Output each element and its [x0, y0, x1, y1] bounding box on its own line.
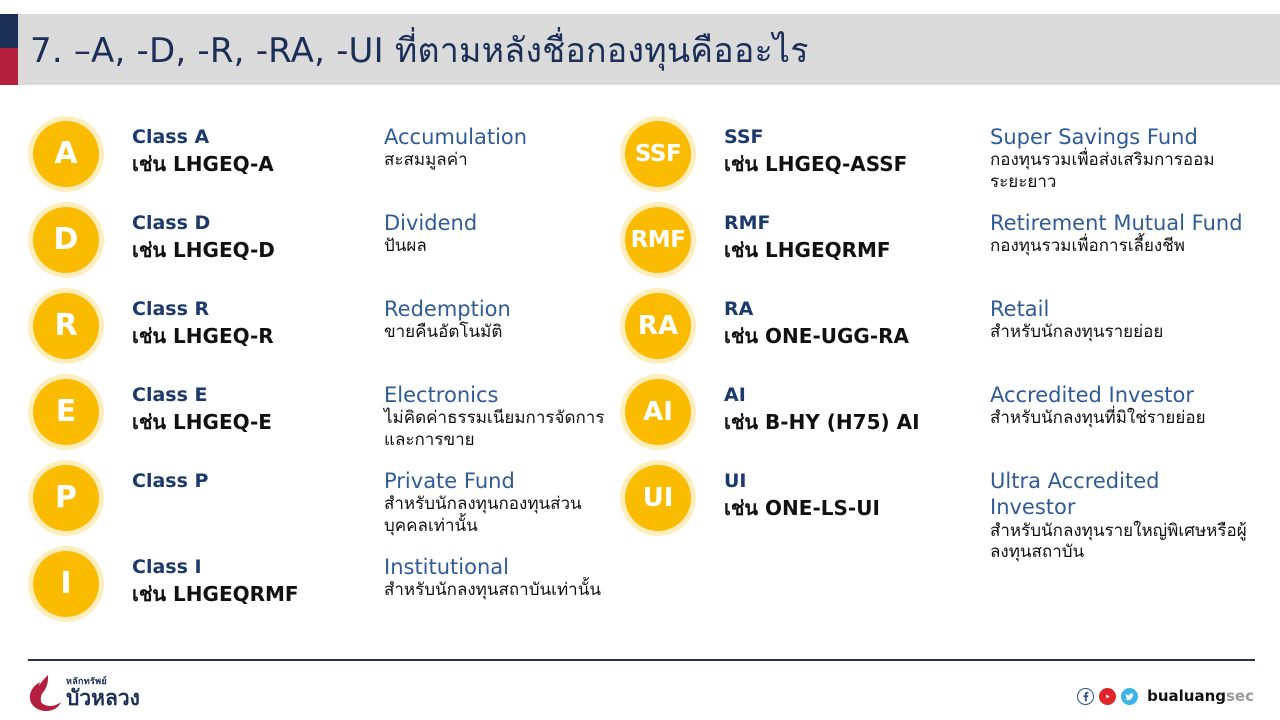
class-name-en: AI — [724, 383, 920, 409]
class-example-th: เช่น LHGEQ-R — [132, 323, 274, 350]
class-badge: RA — [620, 288, 696, 364]
page-title: 7. –A, -D, -R, -RA, -UI ที่ตามหลังชื่อกอ… — [30, 14, 809, 85]
class-example-th: เช่น LHGEQ-E — [132, 409, 272, 436]
fund-class-entry: RMFRMFเช่น LHGEQRMF — [620, 202, 891, 278]
youtube-icon[interactable] — [1099, 688, 1116, 705]
facebook-icon[interactable] — [1077, 688, 1094, 705]
description-en: Electronics — [384, 382, 624, 408]
title-accent-bar — [0, 14, 18, 85]
footer-divider — [28, 659, 1255, 661]
class-badge: D — [28, 202, 104, 278]
badge-label: RA — [625, 293, 691, 359]
description-th: ไม่คิดค่าธรรมเนียมการจัดการและการขาย — [384, 408, 624, 452]
class-badge: AI — [620, 374, 696, 450]
class-description-block: Accumulationสะสมมูลค่า — [384, 118, 624, 172]
description-en: Ultra Accredited Investor — [990, 468, 1250, 521]
logo-main-text: บัวหลวง — [66, 688, 140, 709]
class-description-block: Redemptionขายคืนอัตโนมัติ — [384, 290, 624, 344]
class-description-block: Super Savings Fundกองทุนรวมเพื่อส่งเสริม… — [990, 118, 1250, 194]
badge-label: RMF — [625, 207, 691, 273]
description-th: ขายคืนอัตโนมัติ — [384, 322, 624, 344]
class-name-en: Class R — [132, 297, 274, 323]
accent-red-block — [0, 48, 18, 85]
logo-wordmark: หลักทรัพย์ บัวหลวง — [66, 678, 140, 709]
class-name-en: Class P — [132, 469, 208, 495]
class-badge: R — [28, 288, 104, 364]
social-handle[interactable]: bualuangsec — [1147, 689, 1254, 704]
fund-class-entry: AClass Aเช่น LHGEQ-A — [28, 116, 274, 192]
description-th: กองทุนรวมเพื่อการเลี้ยงชีพ — [990, 236, 1250, 258]
class-badge: SSF — [620, 116, 696, 192]
class-example-th: เช่น LHGEQ-D — [132, 237, 275, 264]
class-description-block: Retirement Mutual Fundกองทุนรวมเพื่อการเ… — [990, 204, 1250, 258]
fund-class-entry: UIUIเช่น ONE-LS-UI — [620, 460, 880, 536]
class-badge: A — [28, 116, 104, 192]
class-badge: UI — [620, 460, 696, 536]
badge-label: E — [33, 379, 99, 445]
class-example-th: เช่น LHGEQ-ASSF — [724, 151, 907, 178]
class-name-block: Class Eเช่น LHGEQ-E — [132, 374, 272, 436]
content-area: AClass Aเช่น LHGEQ-AAccumulationสะสมมูลค… — [0, 100, 1280, 645]
class-name-en: RA — [724, 297, 909, 323]
fund-class-entry: RClass Rเช่น LHGEQ-R — [28, 288, 274, 364]
class-example-th: เช่น B-HY (H75) AI — [724, 409, 920, 436]
class-name-block: RAเช่น ONE-UGG-RA — [724, 288, 909, 350]
class-name-en: Class I — [132, 555, 299, 581]
description-th: สำหรับนักลงทุนรายใหญ่พิเศษหรือผู้ลงทุนสถ… — [990, 521, 1250, 565]
class-badge: I — [28, 546, 104, 622]
class-badge: E — [28, 374, 104, 450]
class-description-block: Retailสำหรับนักลงทุนรายย่อย — [990, 290, 1250, 344]
social-links: bualuangsec — [1077, 688, 1254, 705]
description-th: สำหรับนักลงทุนกองทุนส่วนบุคคลเท่านั้น — [384, 494, 624, 538]
description-th: ปันผล — [384, 236, 624, 258]
description-th: สำหรับนักลงทุนสถาบันเท่านั้น — [384, 580, 624, 602]
class-name-en: Class A — [132, 125, 274, 151]
fund-class-entry: AIAIเช่น B-HY (H75) AI — [620, 374, 920, 450]
class-example-th: เช่น LHGEQRMF — [132, 581, 299, 608]
description-en: Accumulation — [384, 124, 624, 150]
description-th: สะสมมูลค่า — [384, 150, 624, 172]
class-description-block: Ultra Accredited Investorสำหรับนักลงทุนร… — [990, 462, 1250, 564]
badge-label: D — [33, 207, 99, 273]
class-name-block: Class P — [132, 460, 208, 495]
class-name-block: Class Rเช่น LHGEQ-R — [132, 288, 274, 350]
bualuang-logo: หลักทรัพย์ บัวหลวง — [28, 674, 140, 712]
description-th: สำหรับนักลงทุนรายย่อย — [990, 322, 1250, 344]
badge-label: SSF — [625, 121, 691, 187]
class-name-block: AIเช่น B-HY (H75) AI — [724, 374, 920, 436]
description-en: Retirement Mutual Fund — [990, 210, 1250, 236]
class-example-th: เช่น LHGEQRMF — [724, 237, 891, 264]
class-name-block: Class Dเช่น LHGEQ-D — [132, 202, 275, 264]
description-th: สำหรับนักลงทุนที่มิใช่รายย่อย — [990, 408, 1250, 430]
description-en: Retail — [990, 296, 1250, 322]
class-name-en: Class D — [132, 211, 275, 237]
description-en: Private Fund — [384, 468, 624, 494]
description-th: กองทุนรวมเพื่อส่งเสริมการออมระยะยาว — [990, 150, 1250, 194]
badge-label: I — [33, 551, 99, 617]
twitter-icon[interactable] — [1121, 688, 1138, 705]
class-name-en: RMF — [724, 211, 891, 237]
accent-navy-block — [0, 14, 18, 48]
class-description-block: Dividendปันผล — [384, 204, 624, 258]
badge-label: AI — [625, 379, 691, 445]
class-description-block: Institutionalสำหรับนักลงทุนสถาบันเท่านั้… — [384, 548, 624, 602]
class-name-block: RMFเช่น LHGEQRMF — [724, 202, 891, 264]
badge-label: UI — [625, 465, 691, 531]
class-name-en: Class E — [132, 383, 272, 409]
class-badge: P — [28, 460, 104, 536]
class-name-block: UIเช่น ONE-LS-UI — [724, 460, 880, 522]
class-example-th: เช่น ONE-UGG-RA — [724, 323, 909, 350]
description-en: Accredited Investor — [990, 382, 1250, 408]
class-example-th: เช่น LHGEQ-A — [132, 151, 274, 178]
fund-class-entry: PClass P — [28, 460, 208, 536]
badge-label: P — [33, 465, 99, 531]
class-description-block: Accredited Investorสำหรับนักลงทุนที่มิใช… — [990, 376, 1250, 430]
class-example-th: เช่น ONE-LS-UI — [724, 495, 880, 522]
description-en: Redemption — [384, 296, 624, 322]
handle-light: sec — [1226, 687, 1254, 705]
fund-class-entry: DClass Dเช่น LHGEQ-D — [28, 202, 275, 278]
description-en: Dividend — [384, 210, 624, 236]
class-name-block: Class Iเช่น LHGEQRMF — [132, 546, 299, 608]
fund-class-entry: EClass Eเช่น LHGEQ-E — [28, 374, 272, 450]
description-en: Institutional — [384, 554, 624, 580]
handle-bold: bualuang — [1147, 687, 1226, 705]
fund-class-entry: IClass Iเช่น LHGEQRMF — [28, 546, 299, 622]
fund-class-entry: SSFSSFเช่น LHGEQ-ASSF — [620, 116, 907, 192]
class-name-block: Class Aเช่น LHGEQ-A — [132, 116, 274, 178]
class-name-en: UI — [724, 469, 880, 495]
class-description-block: Electronicsไม่คิดค่าธรรมเนียมการจัดการแล… — [384, 376, 624, 452]
class-description-block: Private Fundสำหรับนักลงทุนกองทุนส่วนบุคค… — [384, 462, 624, 538]
description-en: Super Savings Fund — [990, 124, 1250, 150]
lotus-flame-icon — [28, 674, 62, 712]
badge-label: R — [33, 293, 99, 359]
badge-label: A — [33, 121, 99, 187]
class-name-block: SSFเช่น LHGEQ-ASSF — [724, 116, 907, 178]
class-badge: RMF — [620, 202, 696, 278]
slide-root: 7. –A, -D, -R, -RA, -UI ที่ตามหลังชื่อกอ… — [0, 0, 1280, 720]
fund-class-entry: RARAเช่น ONE-UGG-RA — [620, 288, 909, 364]
class-name-en: SSF — [724, 125, 907, 151]
